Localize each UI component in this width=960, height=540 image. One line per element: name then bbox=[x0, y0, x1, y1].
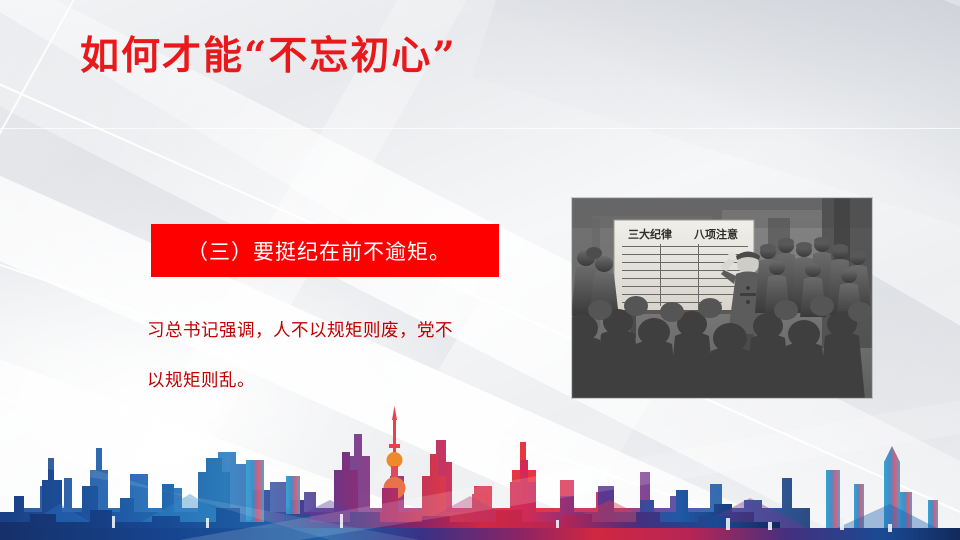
section-heading-text: （三）要挺纪在前不逾矩。 bbox=[151, 236, 451, 266]
historical-photo-illustration: 三大纪律 八项注意 bbox=[572, 198, 872, 398]
svg-text:三大纪律: 三大纪律 bbox=[628, 227, 672, 241]
presentation-slide: 如何才能“不忘初心” （三）要挺纪在前不逾矩。 习总书记强调，人不以规矩则废，党… bbox=[0, 0, 960, 540]
body-paragraph-line: 习总书记强调，人不以规矩则废，党不 bbox=[147, 306, 509, 356]
city-skyline-graphic bbox=[0, 400, 960, 540]
section-heading-banner: （三）要挺纪在前不逾矩。 bbox=[151, 224, 499, 277]
body-paragraph-line: 以规矩则乱。 bbox=[147, 356, 509, 406]
background-hairline bbox=[0, 128, 960, 129]
historical-photo: 三大纪律 八项注意 bbox=[572, 198, 872, 398]
body-paragraph: 习总书记强调，人不以规矩则废，党不 以规矩则乱。 bbox=[147, 306, 509, 406]
city-skyline-illustration bbox=[0, 400, 960, 540]
svg-text:八项注意: 八项注意 bbox=[693, 227, 738, 241]
page-title: 如何才能“不忘初心” bbox=[80, 33, 457, 80]
